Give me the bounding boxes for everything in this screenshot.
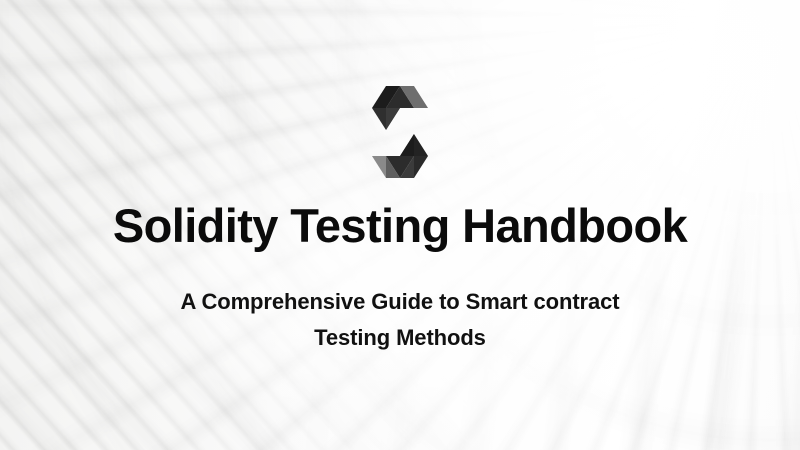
page-subtitle-line-2: Testing Methods bbox=[0, 320, 800, 356]
title-slide: Solidity Testing Handbook A Comprehensiv… bbox=[0, 0, 800, 450]
page-title: Solidity Testing Handbook bbox=[0, 200, 800, 253]
solidity-logo-icon bbox=[372, 86, 428, 178]
page-subtitle-line-1: A Comprehensive Guide to Smart contract bbox=[0, 284, 800, 320]
slide-content: Solidity Testing Handbook A Comprehensiv… bbox=[0, 0, 800, 450]
page-subtitle: A Comprehensive Guide to Smart contract … bbox=[0, 284, 800, 355]
solidity-logo bbox=[372, 86, 428, 178]
